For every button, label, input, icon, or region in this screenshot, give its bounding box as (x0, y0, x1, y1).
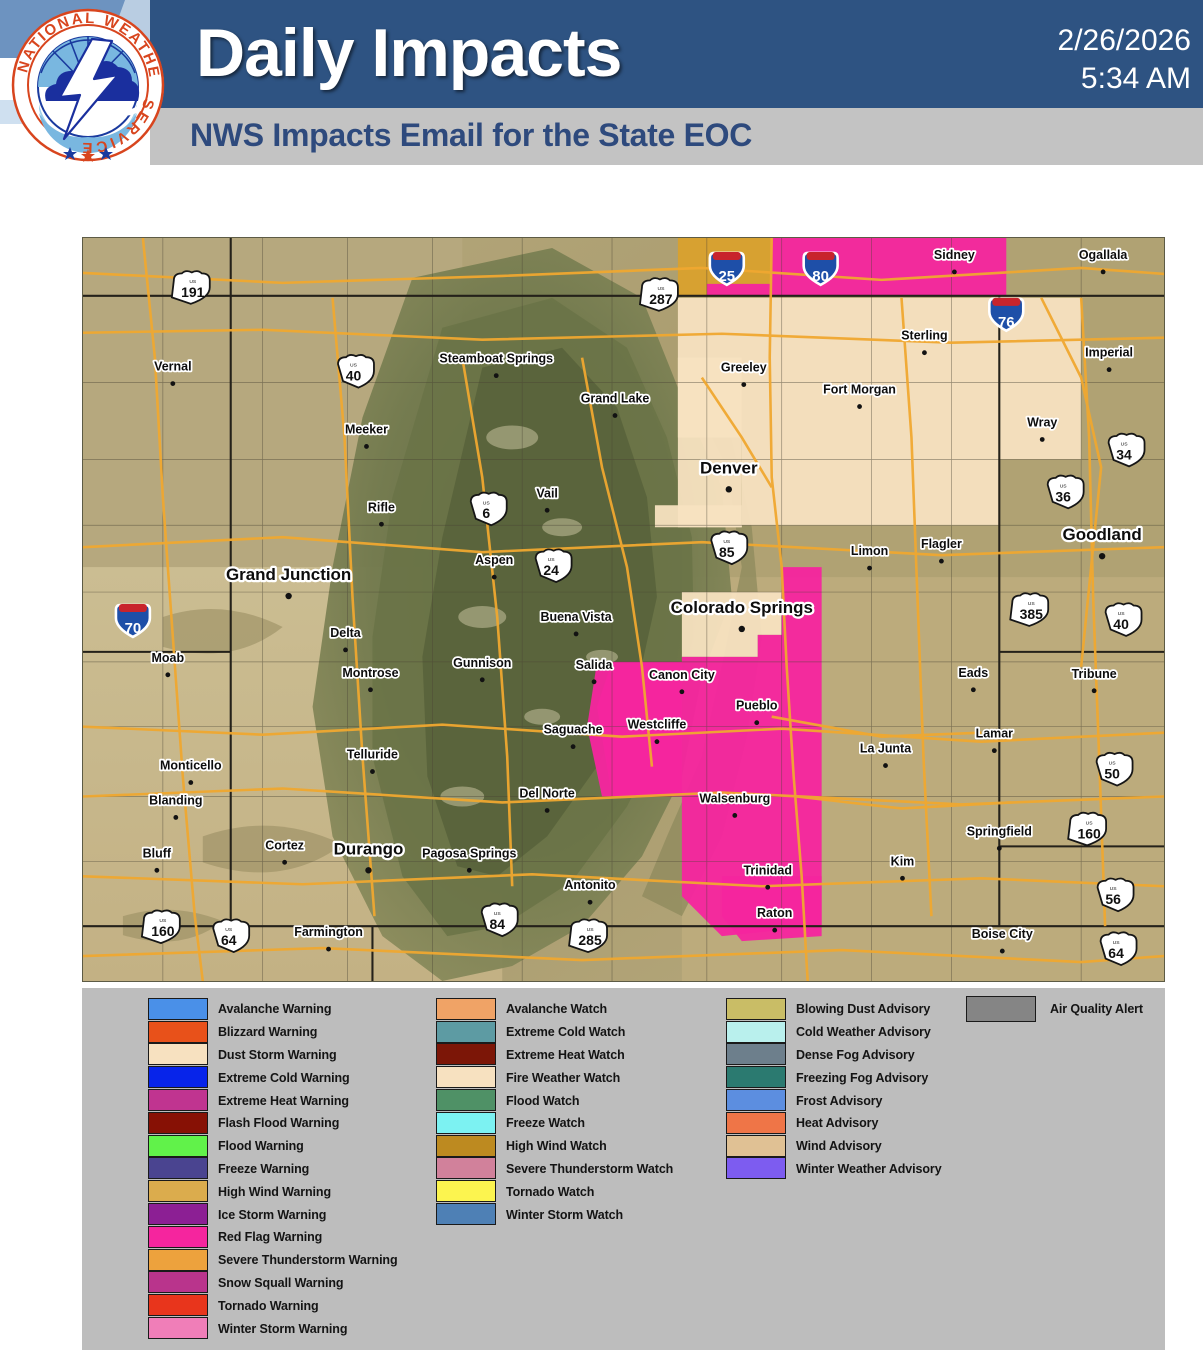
legend-color-swatch (148, 1203, 208, 1225)
map-city-dot (592, 679, 597, 684)
legend-item-label: Extreme Cold Warning (218, 1071, 350, 1085)
legend-column-warnings: Avalanche WarningBlizzard WarningDust St… (148, 998, 398, 1340)
map-city-label: Vail (536, 486, 558, 500)
legend-color-swatch (148, 998, 208, 1020)
map-city-dot (370, 769, 375, 774)
us-route-shield-icon: US191 (172, 271, 210, 304)
legend-color-swatch (148, 1089, 208, 1111)
legend-item-label: Extreme Heat Warning (218, 1094, 349, 1108)
map-city-dot (545, 808, 550, 813)
legend-color-swatch (726, 1135, 786, 1157)
page-header: NATIONAL WEATHER SERVICE Daily Impacts N… (0, 0, 1203, 172)
legend-item-label: Winter Storm Warning (218, 1322, 347, 1336)
map-city-dot (732, 813, 737, 818)
map-city-dot (726, 486, 732, 492)
map-city-label: Greeley (721, 361, 767, 375)
legend-color-swatch (436, 1135, 496, 1157)
map-city-label: Blanding (149, 793, 202, 807)
map-city-label: Fort Morgan (823, 383, 896, 397)
map-city-dot (379, 522, 384, 527)
map-city-label: Flagler (921, 537, 962, 551)
legend-item-label: Heat Advisory (796, 1116, 878, 1130)
legend-item: Tornado Warning (148, 1294, 398, 1317)
map-city-label: Limon (851, 544, 888, 558)
weather-hazard-map[interactable]: VernalVernalSteamboat SpringsSteamboat S… (82, 237, 1165, 982)
us-route-shield-label: 36 (1055, 488, 1071, 504)
header-date: 2/26/2026 (1058, 22, 1191, 60)
us-route-shield-label: 287 (649, 291, 673, 307)
legend-color-swatch (436, 1089, 496, 1111)
map-city-label: Moab (152, 651, 185, 665)
legend-item-label: Red Flag Warning (218, 1230, 322, 1244)
legend-item: High Wind Warning (148, 1180, 398, 1203)
map-city-dot (739, 626, 745, 632)
legend-item-label: Severe Thunderstorm Warning (218, 1253, 398, 1267)
map-city-label: Pueblo (736, 699, 778, 713)
map-city-dot (997, 846, 1002, 851)
legend-item-label: Cold Weather Advisory (796, 1025, 931, 1039)
us-route-shield-label: 34 (1116, 446, 1132, 462)
legend-item: Air Quality Alert (966, 998, 1143, 1021)
legend-color-swatch (726, 998, 786, 1020)
legend-item-label: Wind Advisory (796, 1139, 882, 1153)
legend-item: Flash Flood Warning (148, 1112, 398, 1135)
map-city-dot (1107, 367, 1112, 372)
us-route-shield-label: 24 (543, 562, 559, 578)
legend-item-label: Blizzard Warning (218, 1025, 317, 1039)
map-city-label: Denver (700, 458, 758, 477)
legend-item: Extreme Heat Watch (436, 1044, 673, 1067)
map-city-label: Lamar (976, 727, 1014, 741)
map-city-dot (343, 647, 348, 652)
legend-item: Frost Advisory (726, 1089, 942, 1112)
map-city-dot (1099, 553, 1105, 559)
map-city-dot (679, 689, 684, 694)
map-city-dot (588, 900, 593, 905)
us-route-shield-label: 56 (1105, 891, 1121, 907)
legend-item-label: Air Quality Alert (1050, 1002, 1143, 1016)
legend-item: Ice Storm Warning (148, 1203, 398, 1226)
legend-item: High Wind Watch (436, 1135, 673, 1158)
nws-logo-icon: NATIONAL WEATHER SERVICE (8, 5, 168, 165)
us-route-shield-label: 40 (1113, 616, 1129, 632)
map-city-label: Buena Vista (540, 610, 612, 624)
legend-item-label: Severe Thunderstorm Watch (506, 1162, 673, 1176)
legend-item: Tornado Watch (436, 1180, 673, 1203)
us-route-shield-icon: US160 (1068, 813, 1106, 846)
map-city-label: Montrose (342, 666, 398, 680)
legend-item: Severe Thunderstorm Warning (148, 1249, 398, 1272)
map-city-label: La Junta (860, 742, 912, 756)
map-city-dot (494, 373, 499, 378)
map-city-dot (170, 381, 175, 386)
page-title: Daily Impacts (196, 12, 621, 94)
map-city-label: Grand Junction (226, 565, 351, 584)
map-city-label: Eads (958, 666, 988, 680)
legend-color-swatch (148, 1043, 208, 1065)
legend-item-label: Freezing Fog Advisory (796, 1071, 928, 1085)
map-city-label: Boise City (972, 927, 1033, 941)
map-city-dot (900, 876, 905, 881)
legend-color-swatch (148, 1249, 208, 1271)
map-city-dot (992, 748, 997, 753)
map-city-dot (492, 575, 497, 580)
us-route-shield-label: 50 (1104, 766, 1120, 782)
legend-item: Extreme Cold Warning (148, 1066, 398, 1089)
legend-color-swatch (148, 1157, 208, 1179)
legend-item: Avalanche Watch (436, 998, 673, 1021)
legend-item: Fire Weather Watch (436, 1066, 673, 1089)
legend-color-swatch (148, 1317, 208, 1339)
map-city-dot (326, 947, 331, 952)
us-route-shield-icon: US287 (640, 278, 678, 311)
legend-column-watches: Avalanche WatchExtreme Cold WatchExtreme… (436, 998, 673, 1226)
us-route-shield-label: 85 (719, 544, 735, 560)
map-city-label: Salida (576, 658, 614, 672)
map-city-label: Springfield (967, 824, 1032, 838)
legend-item: Winter Weather Advisory (726, 1158, 942, 1181)
map-city-dot (188, 780, 193, 785)
us-route-shield-label: 64 (1108, 945, 1124, 961)
map-city-label: Cortez (265, 838, 304, 852)
map-city-dot (765, 885, 770, 890)
legend-item: Wind Advisory (726, 1135, 942, 1158)
legend-color-swatch (148, 1180, 208, 1202)
legend-color-swatch (726, 1157, 786, 1179)
map-city-label: Raton (757, 906, 792, 920)
legend-item: Freeze Warning (148, 1158, 398, 1181)
map-city-label: Delta (330, 626, 362, 640)
map-city-label: Goodland (1063, 525, 1142, 544)
map-city-label: Imperial (1085, 346, 1133, 360)
legend-color-swatch (726, 1021, 786, 1043)
legend-item: Extreme Cold Watch (436, 1021, 673, 1044)
map-city-dot (154, 868, 159, 873)
map-city-dot (368, 687, 373, 692)
map-city-dot (883, 763, 888, 768)
legend-item: Winter Storm Watch (436, 1203, 673, 1226)
legend-color-swatch (436, 1043, 496, 1065)
legend-item-label: Avalanche Warning (218, 1002, 331, 1016)
legend-column-alerts: Air Quality Alert (966, 998, 1143, 1021)
map-city-dot (1092, 688, 1097, 693)
us-route-shield-label: 6 (482, 505, 490, 521)
map-city-label: Monticello (160, 759, 222, 773)
map-city-dot (922, 350, 927, 355)
legend-column-advisories: Blowing Dust AdvisoryCold Weather Adviso… (726, 998, 942, 1180)
legend-item-label: Freeze Warning (218, 1162, 309, 1176)
us-route-shield-icon: US385 (1010, 593, 1048, 626)
us-route-shield-label: 285 (578, 932, 602, 948)
map-city-dot (571, 744, 576, 749)
legend-item: Severe Thunderstorm Watch (436, 1158, 673, 1181)
page-subtitle: NWS Impacts Email for the State EOC (190, 113, 752, 157)
legend-item-label: Frost Advisory (796, 1094, 882, 1108)
map-city-label: Ogallala (1079, 248, 1129, 262)
map-city-dot (754, 720, 759, 725)
legend-color-swatch (436, 1021, 496, 1043)
legend-color-swatch (436, 1180, 496, 1202)
map-city-dot (741, 382, 746, 387)
map-city-label: Meeker (345, 422, 388, 436)
map-city-label: Saguache (544, 723, 603, 737)
map-city-dot (772, 928, 777, 933)
legend-item: Dense Fog Advisory (726, 1044, 942, 1067)
interstate-shield-label: 70 (125, 620, 142, 637)
legend-item-label: Extreme Cold Watch (506, 1025, 625, 1039)
legend-item-label: Dust Storm Warning (218, 1048, 337, 1062)
header-time: 5:34 AM (1058, 60, 1191, 98)
legend-item: Flood Warning (148, 1135, 398, 1158)
legend-color-swatch (436, 1112, 496, 1134)
map-city-dot (1040, 437, 1045, 442)
legend-item-label: Flood Warning (218, 1139, 304, 1153)
map-city-dot (952, 270, 957, 275)
map-city-dot (467, 868, 472, 873)
map-city-dot (545, 508, 550, 513)
legend-color-swatch (726, 1066, 786, 1088)
map-city-dot (574, 632, 579, 637)
legend-color-swatch (726, 1112, 786, 1134)
map-city-dot (364, 444, 369, 449)
legend-color-swatch (436, 1157, 496, 1179)
map-city-label: Steamboat Springs (439, 352, 553, 366)
map-city-dot (282, 860, 287, 865)
legend-color-swatch (436, 1203, 496, 1225)
us-route-shield-label: 40 (346, 368, 362, 384)
map-city-dot (857, 404, 862, 409)
legend-item: Blizzard Warning (148, 1021, 398, 1044)
map-city-dot (1000, 949, 1005, 954)
map-city-label: Aspen (475, 553, 513, 567)
map-city-dot (365, 867, 371, 873)
legend-color-swatch (436, 998, 496, 1020)
legend-item: Blowing Dust Advisory (726, 998, 942, 1021)
legend-color-swatch (148, 1294, 208, 1316)
map-canvas[interactable]: VernalVernalSteamboat SpringsSteamboat S… (83, 238, 1164, 981)
map-city-label: Farmington (294, 925, 363, 939)
interstate-shield-label: 76 (998, 314, 1015, 331)
legend-item-label: Flood Watch (506, 1094, 579, 1108)
interstate-shield-label: 25 (718, 268, 735, 285)
map-city-label: Del Norte (519, 786, 575, 800)
map-city-label: Tribune (1072, 667, 1117, 681)
legend-item: Avalanche Warning (148, 998, 398, 1021)
map-city-dot (285, 593, 291, 599)
legend-item-label: Blowing Dust Advisory (796, 1002, 930, 1016)
map-city-label: Canon City (649, 668, 715, 682)
legend-color-swatch (148, 1135, 208, 1157)
legend-item: Red Flag Warning (148, 1226, 398, 1249)
map-city-label: Walsenburg (699, 791, 770, 805)
legend-item: Heat Advisory (726, 1112, 942, 1135)
map-city-dot (173, 815, 178, 820)
legend-item-label: Ice Storm Warning (218, 1208, 326, 1222)
legend-item-label: Freeze Watch (506, 1116, 585, 1130)
map-city-dot (165, 672, 170, 677)
map-city-label: Antonito (564, 878, 616, 892)
legend-item-label: Avalanche Watch (506, 1002, 607, 1016)
map-city-dot (613, 413, 618, 418)
legend-item: Freezing Fog Advisory (726, 1066, 942, 1089)
legend-color-swatch (726, 1089, 786, 1111)
map-city-label: Kim (891, 854, 915, 868)
legend-color-swatch (436, 1066, 496, 1088)
map-city-label: Trinidad (743, 863, 792, 877)
map-city-label: Telluride (347, 748, 398, 762)
legend-item: Extreme Heat Warning (148, 1089, 398, 1112)
us-route-shield-label: 84 (489, 916, 505, 932)
legend-color-swatch (148, 1271, 208, 1293)
legend-item: Winter Storm Warning (148, 1317, 398, 1340)
interstate-shield-label: 80 (812, 268, 829, 285)
map-city-dot (939, 559, 944, 564)
us-route-shield-label: 385 (1020, 606, 1044, 622)
legend-item: Freeze Watch (436, 1112, 673, 1135)
map-city-dot (867, 566, 872, 571)
map-city-label: Rifle (368, 500, 395, 514)
legend-color-swatch (148, 1226, 208, 1248)
map-city-label: Sidney (934, 248, 975, 262)
map-city-dot (971, 687, 976, 692)
map-city-label: Pagosa Springs (422, 846, 516, 860)
map-city-label: Vernal (154, 360, 191, 374)
map-city-label: Westcliffe (628, 718, 687, 732)
us-route-shield-label: 191 (181, 284, 205, 300)
map-city-label: Bluff (143, 846, 172, 860)
map-city-label: Gunnison (453, 656, 511, 670)
legend-item-label: High Wind Warning (218, 1185, 331, 1199)
map-city-label: Sterling (901, 329, 947, 343)
legend-item-label: Winter Storm Watch (506, 1208, 623, 1222)
legend-item-label: Fire Weather Watch (506, 1071, 620, 1085)
legend-item-label: Winter Weather Advisory (796, 1162, 942, 1176)
us-route-shield-label: 160 (151, 923, 175, 939)
us-route-shield-icon: US285 (569, 919, 607, 952)
legend-item: Cold Weather Advisory (726, 1021, 942, 1044)
map-city-dot (655, 739, 660, 744)
legend-item-label: Extreme Heat Watch (506, 1048, 625, 1062)
legend-color-swatch (148, 1021, 208, 1043)
hazard-legend: Avalanche WarningBlizzard WarningDust St… (82, 988, 1165, 1350)
us-route-shield-label: 64 (221, 932, 237, 948)
us-route-shield-icon: US160 (142, 910, 180, 943)
map-city-dot (480, 677, 485, 682)
legend-item-label: Tornado Watch (506, 1185, 594, 1199)
map-city-label: Colorado Springs (671, 598, 813, 617)
legend-item-label: High Wind Watch (506, 1139, 607, 1153)
map-city-label: Wray (1027, 415, 1057, 429)
legend-item-label: Flash Flood Warning (218, 1116, 339, 1130)
header-datetime: 2/26/2026 5:34 AM (1058, 22, 1191, 98)
map-city-label: Durango (334, 839, 404, 858)
legend-color-swatch (726, 1043, 786, 1065)
legend-item: Snow Squall Warning (148, 1272, 398, 1295)
legend-item: Flood Watch (436, 1089, 673, 1112)
legend-item: Dust Storm Warning (148, 1044, 398, 1067)
legend-item-label: Dense Fog Advisory (796, 1048, 915, 1062)
legend-item-label: Snow Squall Warning (218, 1276, 343, 1290)
legend-color-swatch (148, 1112, 208, 1134)
legend-color-swatch (966, 996, 1036, 1022)
legend-item-label: Tornado Warning (218, 1299, 319, 1313)
us-route-shield-label: 160 (1077, 825, 1101, 841)
map-city-dot (1101, 270, 1106, 275)
legend-color-swatch (148, 1066, 208, 1088)
map-city-label: Grand Lake (581, 392, 650, 406)
